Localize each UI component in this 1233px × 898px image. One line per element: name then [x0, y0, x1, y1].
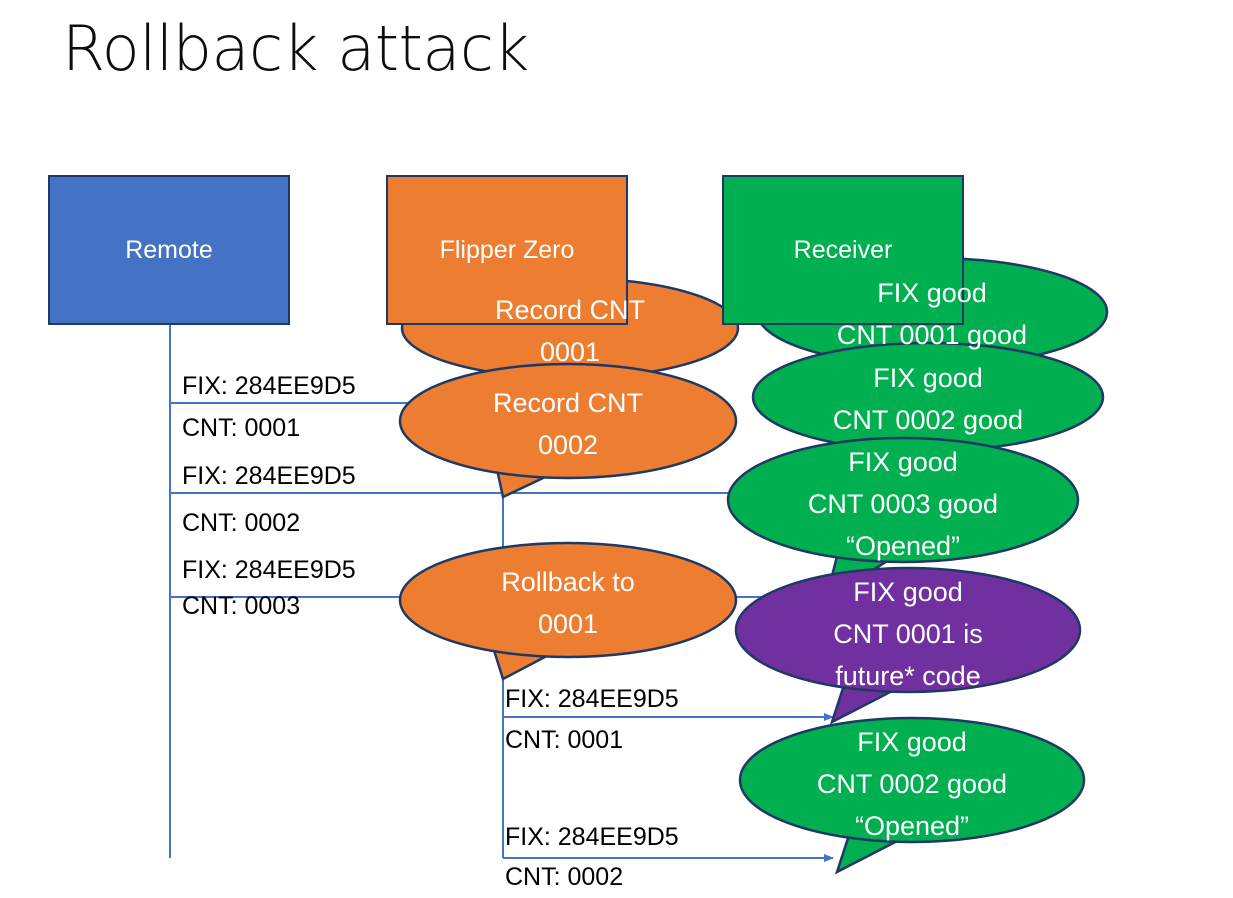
message-cnt-m1: CNT: 0001: [182, 413, 300, 443]
message-cnt-m5: CNT: 0002: [505, 862, 623, 892]
actor-box-flipper[interactable]: Flipper Zero: [386, 175, 628, 325]
message-cnt-m2: CNT: 0002: [182, 508, 300, 538]
callout-receiver-cnt-0002-opened: [740, 718, 1084, 872]
slide-canvas: Rollback attack: [0, 0, 1233, 898]
actor-label-remote: Remote: [50, 235, 288, 265]
message-fix-m1: FIX: 284EE9D5: [182, 371, 356, 401]
callout-receiver-cnt-0001-future: [736, 568, 1080, 722]
message-fix-m5: FIX: 284EE9D5: [505, 822, 679, 852]
actor-label-receiver: Receiver: [724, 235, 962, 265]
message-cnt-m3: CNT: 0003: [182, 591, 300, 621]
message-cnt-m4: CNT: 0001: [505, 725, 623, 755]
actor-box-remote[interactable]: Remote: [48, 175, 290, 325]
message-fix-m4: FIX: 284EE9D5: [505, 684, 679, 714]
actor-label-flipper: Flipper Zero: [388, 235, 626, 265]
callout-flipper-record-0002: [400, 364, 736, 497]
actor-box-receiver[interactable]: Receiver: [722, 175, 964, 325]
message-fix-m3: FIX: 284EE9D5: [182, 555, 356, 585]
sequence-diagram: [0, 0, 1233, 898]
callout-flipper-rollback-0001: [400, 543, 736, 679]
message-fix-m2: FIX: 284EE9D5: [182, 461, 356, 491]
